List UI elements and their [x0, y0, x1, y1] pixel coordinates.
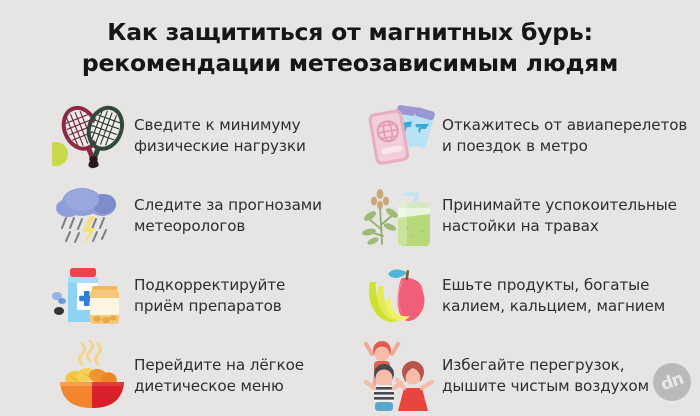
tip-item-nutrition: Ешьте продукты, богатые калием, кальцием…	[350, 256, 700, 336]
tip-text: Откажитесь от авиаперелетов и поездок в …	[442, 115, 687, 157]
medicine-bottles-icon	[52, 258, 134, 334]
tip-text: Перейдите на лёгкое диетическое меню	[134, 355, 304, 397]
tip-text: Сведите к минимуму физические нагрузки	[134, 115, 306, 157]
tip-item-avoid-overload: Избегайте перегрузок, дышите чистым возд…	[350, 336, 700, 416]
page-title: Как защититься от магнитных бурь: рекоме…	[0, 0, 700, 79]
tip-item-avoid-travel: Откажитесь от авиаперелетов и поездок в …	[350, 96, 700, 176]
tip-line-1: Сведите к минимуму	[134, 115, 306, 136]
tip-text: Избегайте перегрузок, дышите чистым возд…	[442, 355, 649, 397]
page-title-line-2: рекомендации метеозависимым людям	[0, 48, 700, 79]
food-bowl-icon	[52, 338, 134, 414]
tip-line-1: Избегайте перегрузок,	[442, 355, 649, 376]
tip-item-diet: Перейдите на лёгкое диетическое меню	[0, 336, 350, 416]
tip-line-1: Перейдите на лёгкое	[134, 355, 304, 376]
tip-line-1: Ешьте продукты, богатые	[442, 275, 665, 296]
children-icon	[360, 338, 442, 414]
tips-grid: Сведите к минимуму физические нагрузки	[0, 96, 700, 416]
tip-item-weather-forecast: Следите за прогнозами метеорологов	[0, 176, 350, 256]
tips-column-right: Откажитесь от авиаперелетов и поездок в …	[350, 96, 700, 416]
tip-line-2: и поездок в метро	[442, 136, 687, 157]
tip-line-2: физические нагрузки	[134, 136, 306, 157]
tip-line-2: калием, кальцием, магнием	[442, 296, 665, 317]
watermark-logo: dn	[653, 363, 691, 401]
tip-line-2: метеорологов	[134, 216, 322, 237]
tip-item-herbal-remedies: Принимайте успокоительные настойки на тр…	[350, 176, 700, 256]
infographic-page: Как защититься от магнитных бурь: рекоме…	[0, 0, 700, 413]
herbal-drink-icon	[360, 178, 442, 254]
tip-text: Следите за прогнозами метеорологов	[134, 195, 322, 237]
page-title-line-1: Как защититься от магнитных бурь:	[0, 17, 700, 48]
tip-line-1: Принимайте успокоительные	[442, 195, 677, 216]
tip-item-medication: Подкорректируйте приём препаратов	[0, 256, 350, 336]
tip-item-physical-activity: Сведите к минимуму физические нагрузки	[0, 96, 350, 176]
tip-text: Ешьте продукты, богатые калием, кальцием…	[442, 275, 665, 317]
tip-line-2: диетическое меню	[134, 376, 304, 397]
tip-line-1: Следите за прогнозами	[134, 195, 322, 216]
fruits-icon	[360, 258, 442, 334]
tip-line-1: Откажитесь от авиаперелетов	[442, 115, 687, 136]
tip-line-2: приём препаратов	[134, 296, 285, 317]
tip-line-1: Подкорректируйте	[134, 275, 285, 296]
tip-text: Подкорректируйте приём препаратов	[134, 275, 285, 317]
tennis-rackets-icon	[52, 98, 134, 174]
tip-line-2: настойки на травах	[442, 216, 677, 237]
tip-line-2: дышите чистым воздухом	[442, 376, 649, 397]
tip-text: Принимайте успокоительные настойки на тр…	[442, 195, 677, 237]
rain-cloud-icon	[52, 178, 134, 254]
tips-column-left: Сведите к минимуму физические нагрузки	[0, 96, 350, 416]
passport-tickets-icon	[360, 98, 442, 174]
watermark-text: dn	[659, 370, 686, 394]
